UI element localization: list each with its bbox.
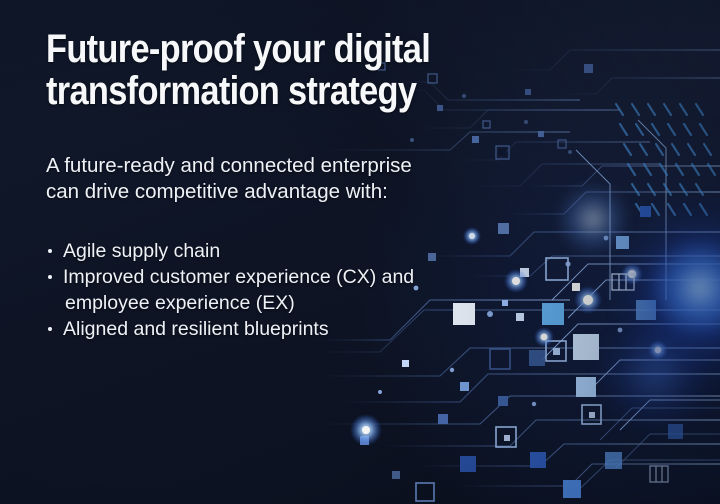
slide-content: Future-proof your digital transformation… [0, 0, 660, 504]
benefits-list: Agile supply chain Improved customer exp… [46, 238, 576, 342]
list-item-label: Agile supply chain [63, 240, 220, 262]
list-item: Improved customer experience (CX) and em… [46, 264, 576, 316]
list-item-continuation: employee experience (EX) [63, 290, 576, 316]
list-item: Agile supply chain [46, 238, 576, 264]
bullet-dot-icon [48, 275, 52, 279]
slide-canvas: Future-proof your digital transformation… [0, 0, 720, 504]
bullet-dot-icon [48, 249, 52, 253]
list-item-label: Improved customer experience (CX) and [63, 266, 414, 288]
subheadline-line-1: A future-ready and connected enterprise [46, 153, 566, 179]
bullet-dot-icon [48, 327, 52, 331]
subheadline-line-2: can drive competitive advantage with: [46, 179, 566, 205]
page-title: Future-proof your digital transformation… [46, 28, 562, 112]
list-item-label: Aligned and resilient blueprints [63, 318, 329, 340]
subheadline: A future-ready and connected enterprise … [46, 153, 566, 205]
list-item: Aligned and resilient blueprints [46, 316, 576, 342]
